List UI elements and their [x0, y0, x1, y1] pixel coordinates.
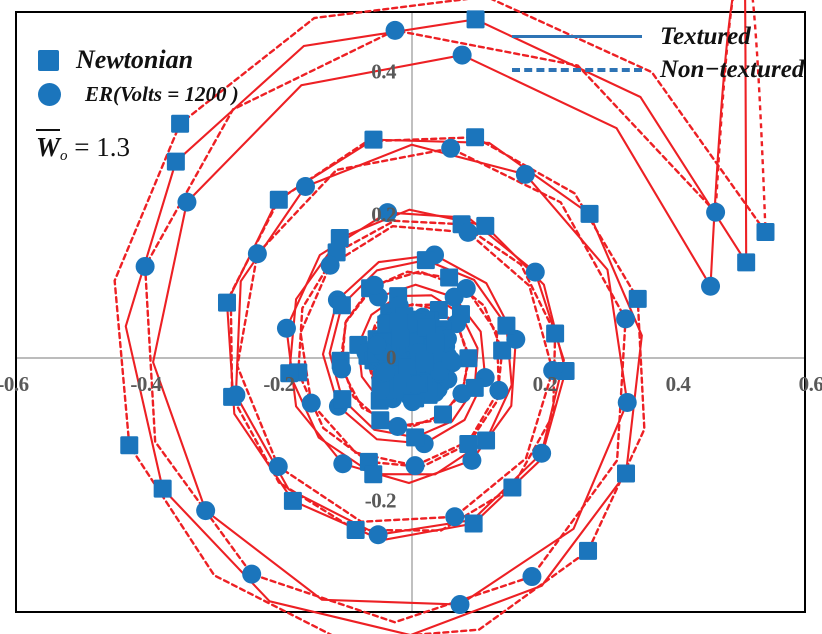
circle-marker [369, 525, 388, 544]
circle-marker [618, 393, 637, 412]
square-marker [427, 333, 445, 351]
circle-marker [406, 456, 425, 475]
legend-linestyles: Textured Non−textured [512, 20, 804, 86]
circle-marker [277, 319, 296, 338]
circle-marker [462, 451, 481, 470]
circle-marker [332, 359, 351, 378]
circle-marker [522, 567, 541, 586]
legend-label-newtonian: Newtonian [76, 45, 193, 75]
legend-label-non-textured: Non−textured [660, 56, 804, 84]
square-marker [467, 10, 485, 28]
x-tick-label: 0.6 [799, 372, 822, 397]
square-marker [503, 478, 521, 496]
square-marker [477, 432, 495, 450]
y-origin-label: 0 [386, 346, 396, 371]
circle-marker [367, 336, 386, 355]
circle-marker [365, 276, 384, 295]
square-marker [440, 268, 458, 286]
circle-marker [616, 309, 635, 328]
square-marker [389, 313, 407, 331]
square-marker [391, 329, 409, 347]
circle-marker [445, 507, 464, 526]
circle-marker [302, 394, 321, 413]
circle-marker [333, 454, 352, 473]
square-marker [756, 223, 774, 241]
square-marker [434, 406, 452, 424]
y-tick-label: -0.2 [365, 489, 396, 514]
y-tick-label: 0.2 [371, 203, 396, 228]
circle-marker [457, 279, 476, 298]
circle-marker-icon [38, 83, 61, 106]
circle-marker [701, 277, 720, 296]
square-marker [399, 358, 417, 376]
y-tick-label: 0.4 [371, 60, 396, 85]
square-marker [167, 153, 185, 171]
annotation-subscript: o [60, 148, 68, 164]
circle-marker [407, 375, 426, 394]
square-marker [546, 325, 564, 343]
circle-marker [386, 21, 405, 40]
solid-line-icon [512, 35, 642, 38]
square-marker [629, 290, 647, 308]
circle-marker [136, 257, 155, 276]
square-marker [364, 131, 382, 149]
circle-marker [453, 46, 472, 65]
circle-marker [242, 565, 261, 584]
square-marker [617, 464, 635, 482]
circle-marker [450, 595, 469, 614]
circle-marker [706, 203, 725, 222]
square-marker [497, 317, 515, 335]
square-marker [417, 251, 435, 269]
circle-marker [489, 381, 508, 400]
square-marker [476, 217, 494, 235]
square-marker [364, 465, 382, 483]
square-marker [417, 318, 435, 336]
circle-marker [452, 384, 471, 403]
x-tick-label: 0.2 [533, 372, 558, 397]
legend-item-newtonian[interactable]: Newtonian [38, 45, 239, 75]
circle-marker [459, 223, 478, 242]
square-marker [465, 514, 483, 532]
square-marker [581, 205, 599, 223]
square-marker-icon [38, 50, 59, 71]
square-marker [270, 191, 288, 209]
dashed-line-icon [512, 68, 642, 72]
circle-marker [226, 385, 245, 404]
x-tick-label: -0.2 [263, 372, 294, 397]
square-marker [459, 349, 477, 367]
chart-page: -0.6-0.4-0.20.20.40.60.80.60.40.20-0.2-0… [0, 0, 822, 634]
legend-item-textured[interactable]: Textured [512, 20, 804, 53]
circle-marker [403, 392, 422, 411]
square-marker [466, 128, 484, 146]
square-marker [120, 436, 138, 454]
circle-marker [442, 351, 461, 370]
circle-marker [526, 263, 545, 282]
square-marker [331, 229, 349, 247]
legend-label-er: ER(Volts = 1200 ) [85, 82, 239, 107]
circle-marker [516, 165, 535, 184]
circle-marker [441, 139, 460, 158]
annotation-w-bar: Wo = 1.3 [36, 129, 130, 165]
square-marker [459, 435, 477, 453]
annotation-value: = 1.3 [74, 132, 130, 162]
x-tick-label: -0.4 [130, 372, 161, 397]
square-marker [171, 115, 189, 133]
square-marker [416, 353, 434, 371]
square-marker [218, 294, 236, 312]
square-marker [284, 492, 302, 510]
square-marker [333, 296, 351, 314]
annotation-symbol: W [36, 129, 60, 163]
legend-label-textured: Textured [660, 23, 751, 51]
x-tick-label: -0.6 [0, 372, 29, 397]
square-marker [333, 390, 351, 408]
legend-item-er[interactable]: ER(Volts = 1200 ) [38, 79, 239, 109]
square-marker [737, 253, 755, 271]
circle-marker [532, 444, 551, 463]
legend-markers: Newtonian ER(Volts = 1200 ) [38, 45, 239, 113]
circle-marker [296, 177, 315, 196]
circle-marker [321, 256, 340, 275]
square-marker [406, 428, 424, 446]
circle-marker [177, 193, 196, 212]
circle-marker [248, 244, 267, 263]
circle-marker [196, 501, 215, 520]
square-marker [579, 542, 597, 560]
square-marker [347, 521, 365, 539]
square-marker [154, 480, 172, 498]
square-marker [371, 411, 389, 429]
legend-item-non-textured[interactable]: Non−textured [512, 53, 804, 86]
x-tick-label: 0.4 [666, 372, 691, 397]
circle-marker [269, 457, 288, 476]
circle-marker [388, 417, 407, 436]
